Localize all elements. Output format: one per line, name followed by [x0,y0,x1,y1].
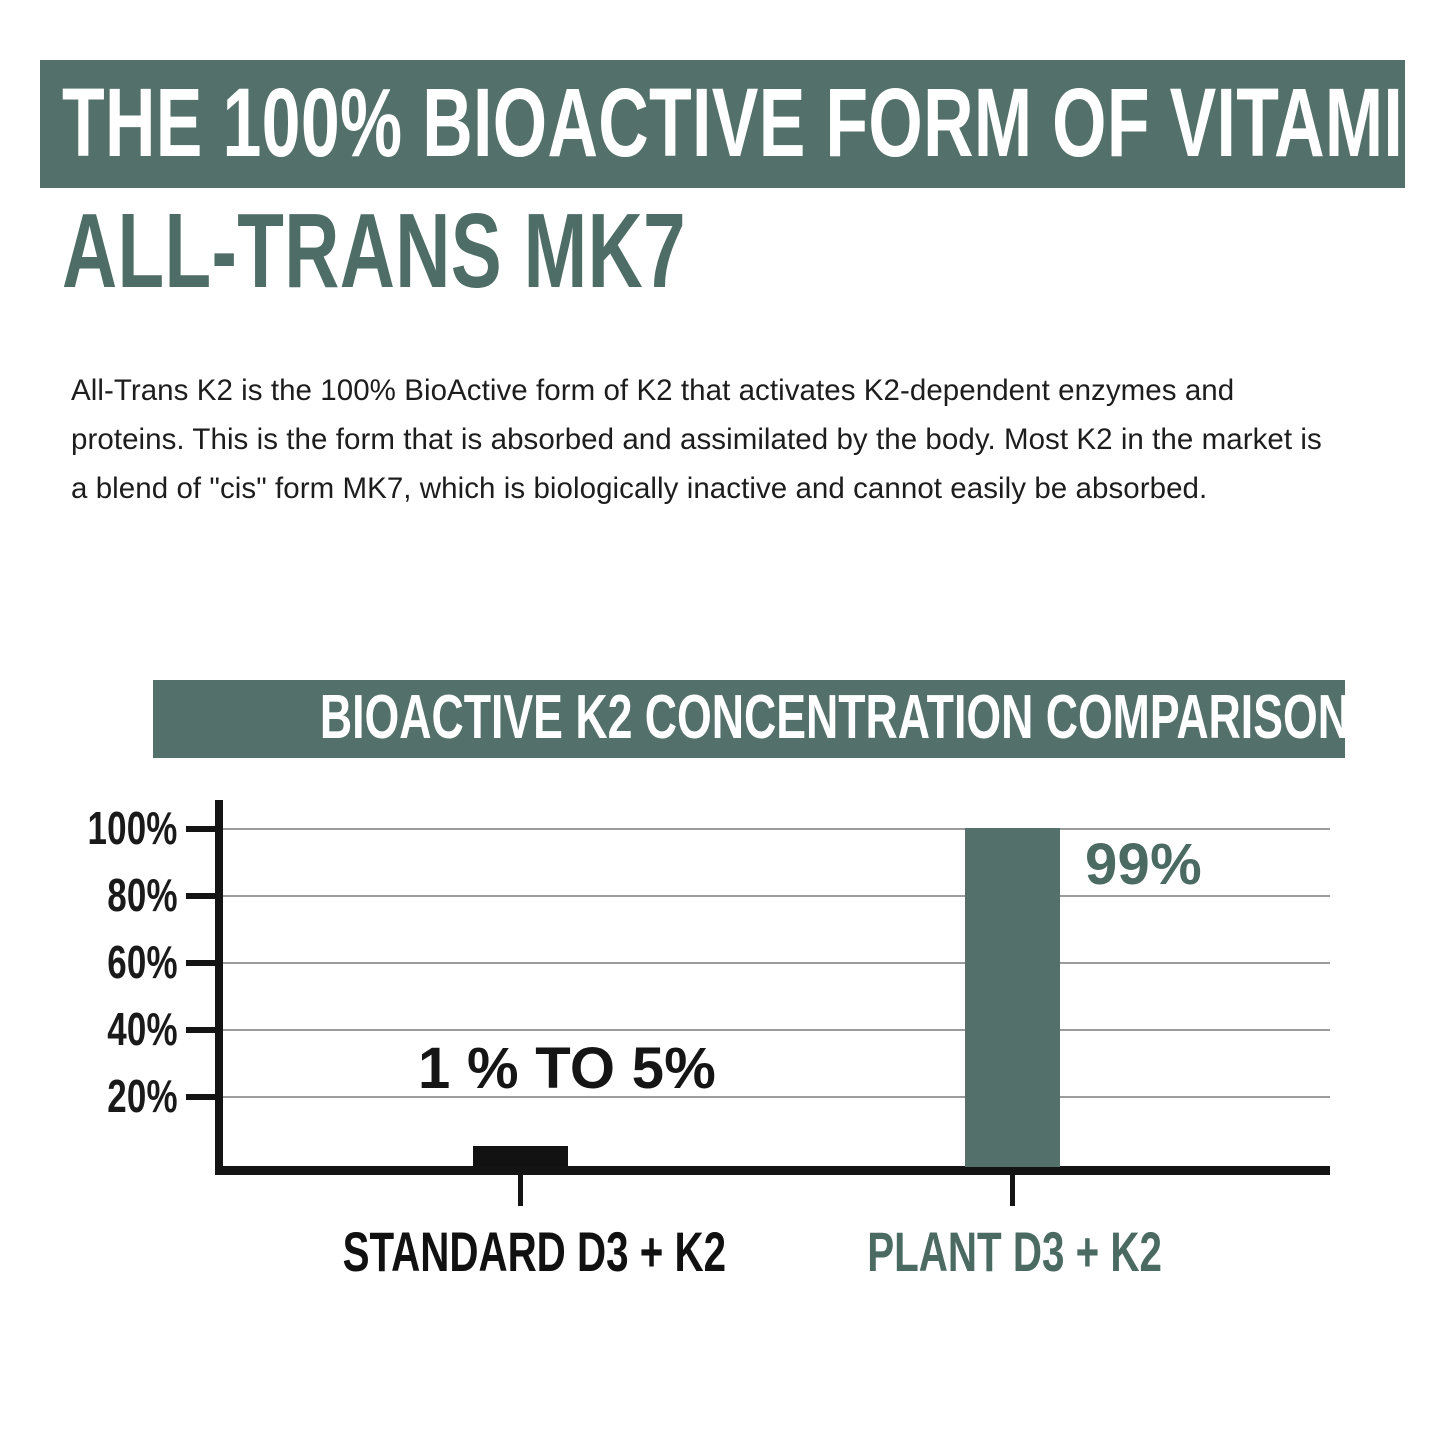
bar-plant-d3-k2[interactable] [965,828,1060,1167]
x-axis-label-plant: PLANT D3 + K2 [810,1224,1210,1280]
y-axis-label-80: 80% [0,872,178,918]
bioactive-k2-bar-chart: BIOACTIVE K2 CONCENTRATION COMPARISON 10… [0,0,1445,1445]
x-tick-mark-standard [518,1174,523,1206]
y-axis-line [215,800,223,1174]
x-tick-mark-plant [1010,1174,1015,1206]
y-tick-mark-20 [186,1094,222,1100]
gridline-60 [215,962,1330,964]
gridline-40 [215,1029,1330,1031]
gridline-20 [215,1096,1330,1098]
x-axis-line [215,1166,1330,1175]
chart-title-bar: BIOACTIVE K2 CONCENTRATION COMPARISON [153,680,1345,758]
bar-value-plant: 99% [1085,836,1202,894]
y-tick-mark-100 [186,826,222,832]
bar-standard-d3-k2[interactable] [473,1146,568,1167]
y-tick-mark-80 [186,893,222,899]
bar-value-standard: 1 % TO 5% [418,1040,716,1098]
y-axis-label-100: 100% [0,805,178,851]
chart-title: BIOACTIVE K2 CONCENTRATION COMPARISON [320,684,1178,752]
y-tick-mark-60 [186,960,222,966]
gridline-100 [215,828,1330,830]
y-axis-label-20: 20% [0,1073,178,1119]
y-tick-mark-40 [186,1027,222,1033]
x-axis-label-standard: STANDARD D3 + K2 [268,1224,768,1280]
y-axis-label-60: 60% [0,939,178,985]
y-axis-label-40: 40% [0,1006,178,1052]
